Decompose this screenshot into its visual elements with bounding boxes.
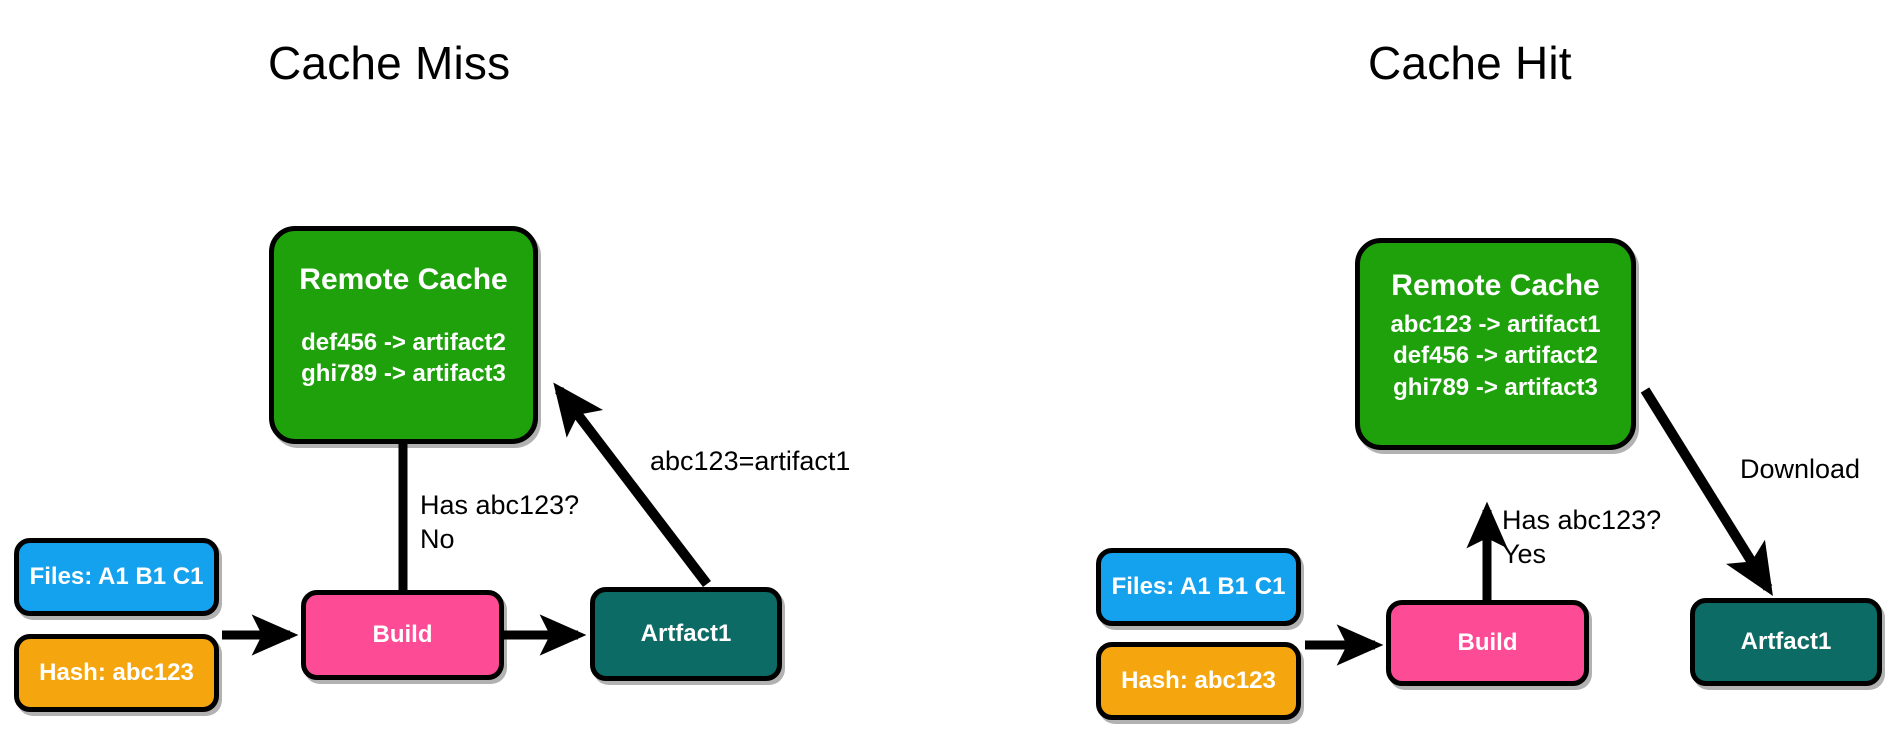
edge-cache-to-artifact-right — [1645, 390, 1768, 588]
remote-cache-title: Remote Cache — [1391, 267, 1599, 305]
diagram-canvas: Cache Miss Remote Cache def456 -> artifa… — [0, 0, 1894, 746]
files-node-label: Files: A1 B1 C1 — [1112, 573, 1286, 601]
panel-title-cache-hit: Cache Hit — [1368, 36, 1572, 90]
edge-label-upload-miss: abc123=artifact1 — [650, 444, 850, 478]
files-node-label: Files: A1 B1 C1 — [30, 563, 204, 591]
remote-cache-hit[interactable]: Remote Cache abc123 -> artifact1 def456 … — [1355, 238, 1636, 450]
build-node-label: Build — [1458, 629, 1518, 657]
cache-entry: ghi789 -> artifact3 — [301, 358, 506, 390]
artifact-node-label: Artfact1 — [1741, 628, 1832, 656]
artifact-node-hit[interactable]: Artfact1 — [1690, 598, 1882, 686]
hash-node-label: Hash: abc123 — [1121, 667, 1276, 695]
remote-cache-miss[interactable]: Remote Cache def456 -> artifact2 ghi789 … — [269, 226, 538, 444]
panel-title-cache-miss: Cache Miss — [268, 36, 510, 90]
artifact-node-miss[interactable]: Artfact1 — [590, 587, 782, 681]
edge-label-query-hit: Has abc123? Yes — [1502, 503, 1661, 571]
cache-entry: abc123 -> artifact1 — [1390, 309, 1600, 341]
build-node-hit[interactable]: Build — [1386, 600, 1589, 686]
remote-cache-title: Remote Cache — [299, 261, 507, 299]
cache-entry: def456 -> artifact2 — [1393, 340, 1598, 372]
artifact-node-label: Artfact1 — [641, 620, 732, 648]
hash-node-miss[interactable]: Hash: abc123 — [14, 634, 219, 712]
edge-label-download-hit: Download — [1740, 452, 1860, 486]
hash-node-hit[interactable]: Hash: abc123 — [1096, 642, 1301, 720]
files-node-hash[interactable]: Files: A1 B1 C1 — [1096, 548, 1301, 626]
cache-entry: def456 -> artifact2 — [301, 327, 506, 359]
build-node-miss[interactable]: Build — [301, 590, 504, 680]
files-node-miss[interactable]: Files: A1 B1 C1 — [14, 538, 219, 616]
hash-node-label: Hash: abc123 — [39, 659, 194, 687]
build-node-label: Build — [373, 621, 433, 649]
edge-label-query-miss: Has abc123? No — [420, 488, 579, 556]
edge-artifact-to-cache-left — [559, 390, 707, 584]
cache-entry: ghi789 -> artifact3 — [1393, 372, 1598, 404]
